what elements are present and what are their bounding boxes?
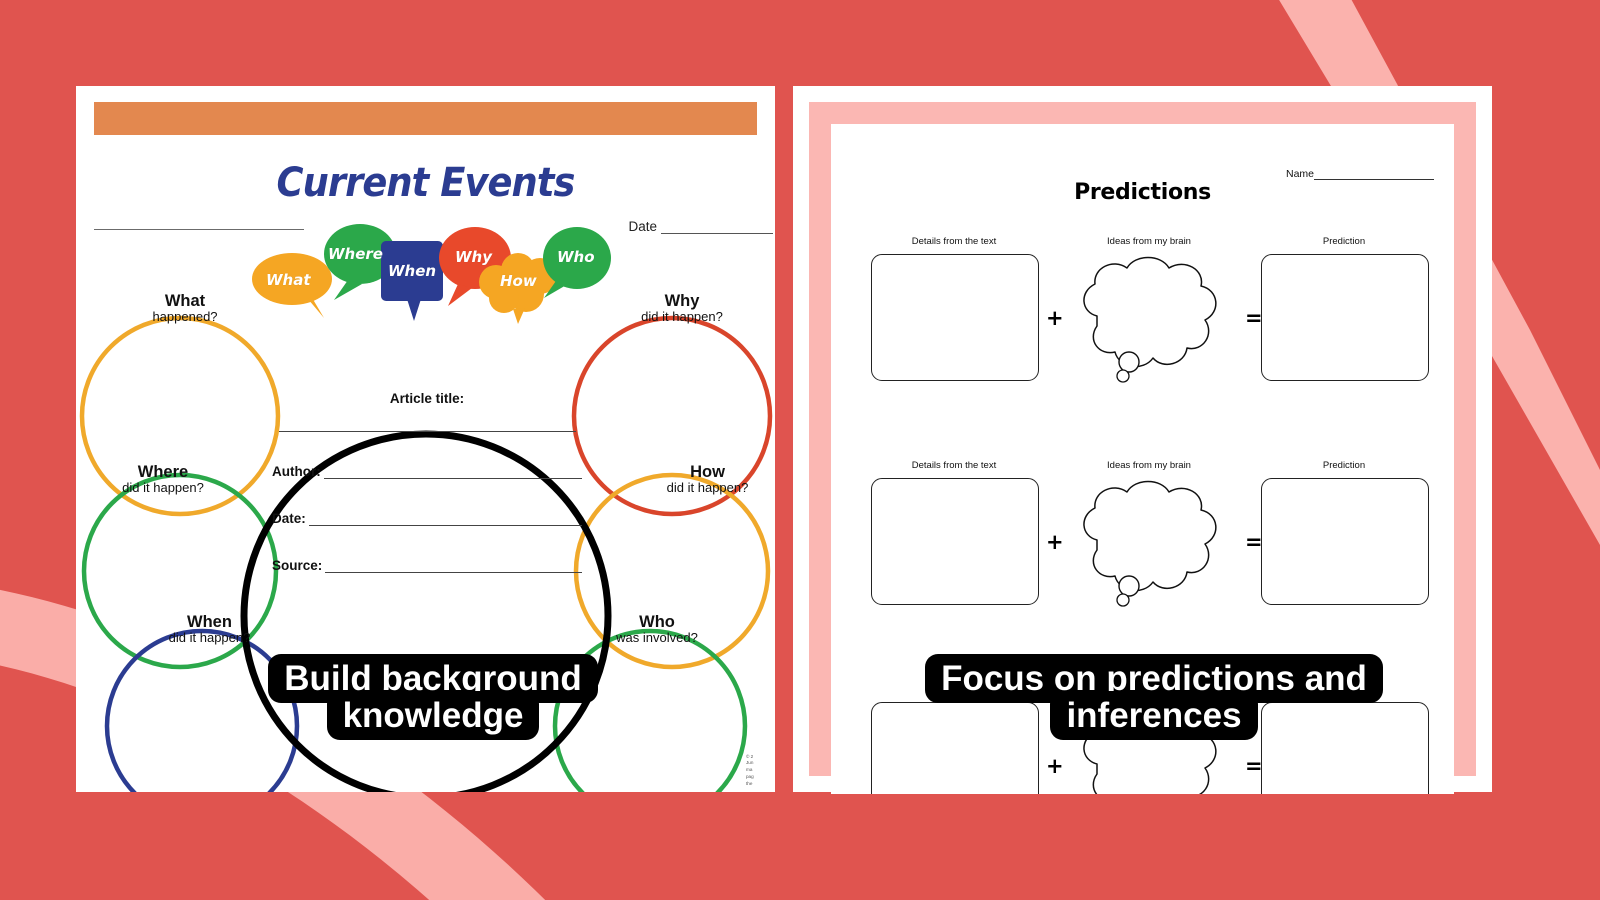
details-box[interactable] xyxy=(871,702,1039,794)
right-worksheet[interactable]: Predictions Name Details from the text I… xyxy=(831,124,1454,794)
circle-label-who: Who was involved? xyxy=(582,613,732,646)
equals-operator: = xyxy=(1245,532,1263,553)
right-worksheet-frame: Predictions Name Details from the text I… xyxy=(793,86,1492,792)
name-field[interactable]: Name xyxy=(1286,168,1434,180)
copyright-line: the xyxy=(746,781,772,788)
author-rule xyxy=(324,467,582,479)
source-field[interactable]: Source: xyxy=(272,558,582,573)
article-date-field[interactable]: Date: xyxy=(272,511,582,526)
article-date-rule xyxy=(309,514,582,526)
thought-cloud-icon[interactable] xyxy=(1057,250,1243,400)
source-rule xyxy=(325,561,582,573)
article-date-label: Date: xyxy=(272,511,306,526)
column-header-details: Details from the text xyxy=(871,236,1037,247)
copyright-line: Jun xyxy=(746,760,772,767)
copyright-line: ma xyxy=(746,767,772,774)
equals-operator: = xyxy=(1245,756,1263,777)
author-field[interactable]: Author: xyxy=(272,464,582,479)
copyright-line: pag xyxy=(746,774,772,781)
prediction-row: Details from the text Ideas from my brai… xyxy=(861,460,1437,640)
prediction-box[interactable] xyxy=(1261,254,1429,381)
circle-label-why: Why did it happen? xyxy=(612,292,752,325)
details-box[interactable] xyxy=(871,478,1039,605)
circle-label-what: What happened? xyxy=(120,292,250,325)
predictions-title: Predictions xyxy=(831,180,1454,205)
source-label: Source: xyxy=(272,558,322,573)
column-header-prediction: Prediction xyxy=(1261,460,1427,471)
copyright-notice: © 2 Jun ma pag the xyxy=(746,754,772,788)
author-label: Author: xyxy=(272,464,321,479)
circle-label-how: How did it happen? xyxy=(640,463,775,496)
thought-cloud-icon[interactable] xyxy=(1057,698,1243,794)
prediction-box[interactable] xyxy=(1261,702,1429,794)
circle-label-where: Where did it happen? xyxy=(88,463,238,496)
prediction-row: + = xyxy=(861,684,1437,794)
column-header-ideas: Ideas from my brain xyxy=(1066,236,1232,247)
prediction-box[interactable] xyxy=(1261,478,1429,605)
thought-cloud-icon[interactable] xyxy=(1057,474,1243,624)
name-label: Name xyxy=(1286,168,1314,180)
column-header-details: Details from the text xyxy=(871,460,1037,471)
article-info-fields[interactable]: Article title: Author: Date: Source: xyxy=(272,391,582,573)
equals-operator: = xyxy=(1245,308,1263,329)
prediction-row: Details from the text Ideas from my brai… xyxy=(861,236,1437,416)
details-box[interactable] xyxy=(871,254,1039,381)
name-rule xyxy=(1314,170,1434,180)
column-header-prediction: Prediction xyxy=(1261,236,1427,247)
copyright-line: © 2 xyxy=(746,754,772,761)
article-title-label: Article title: xyxy=(272,391,582,406)
slide-canvas: Current Events Date xyxy=(0,0,1600,900)
left-worksheet[interactable]: Current Events Date xyxy=(76,86,775,792)
article-title-rule[interactable] xyxy=(279,430,576,432)
circle-label-when: When did it happen? xyxy=(132,613,287,646)
column-header-ideas: Ideas from my brain xyxy=(1066,460,1232,471)
